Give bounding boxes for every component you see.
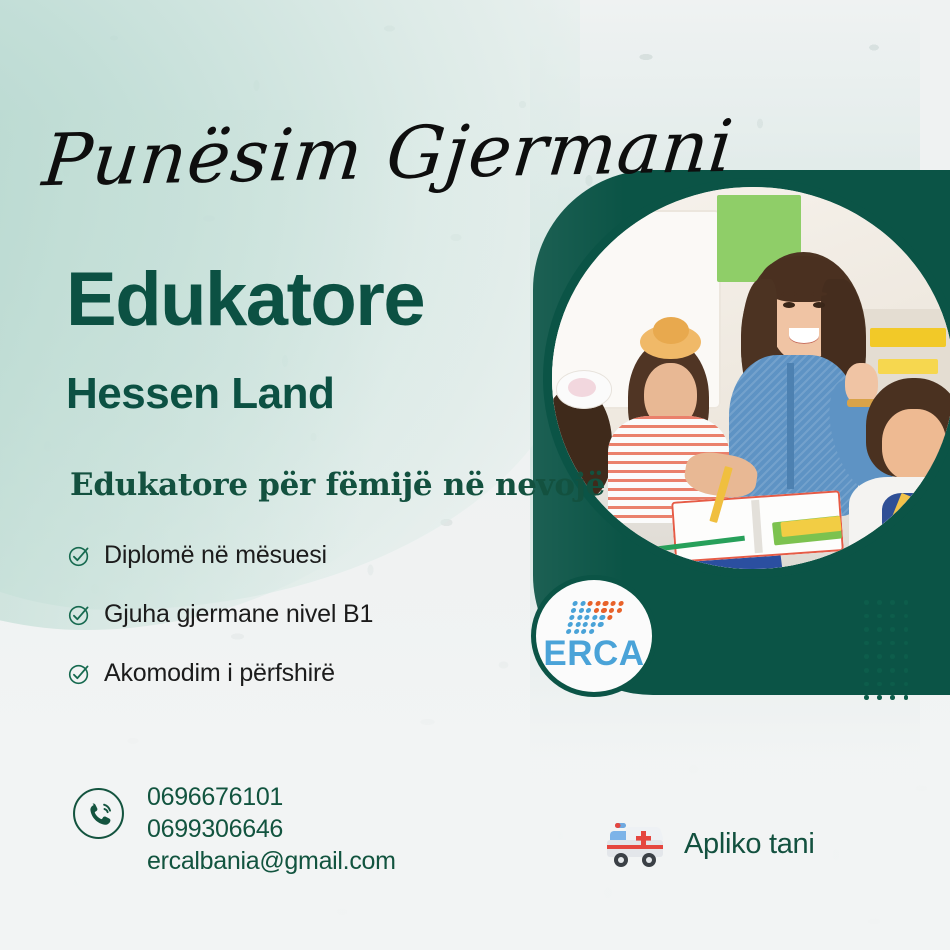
dot xyxy=(877,614,882,619)
dot xyxy=(890,600,895,605)
dot xyxy=(864,614,869,619)
list-item: Diplomë në mësuesi xyxy=(68,532,538,578)
list-item-label: Gjuha gjermane nivel B1 xyxy=(104,600,373,629)
dot xyxy=(599,615,605,620)
dot xyxy=(601,608,607,613)
page-title: Edukatore xyxy=(66,262,424,338)
check-circle-icon xyxy=(68,603,91,626)
dot xyxy=(590,622,596,627)
contact-block: 0696676101 0699306646 ercalbania@gmail.c… xyxy=(72,781,396,877)
dot xyxy=(573,629,579,634)
dot xyxy=(593,608,599,613)
dot xyxy=(610,601,616,606)
dot xyxy=(586,608,592,613)
dot xyxy=(580,601,586,606)
dot xyxy=(567,622,573,627)
dot xyxy=(877,695,882,700)
check-circle-icon xyxy=(68,544,91,567)
dot xyxy=(904,695,909,700)
dot xyxy=(890,627,895,632)
dot xyxy=(565,629,571,634)
dot xyxy=(877,641,882,646)
dot xyxy=(592,615,598,620)
dot xyxy=(877,600,882,605)
dot-grid-decoration xyxy=(864,600,912,708)
dot xyxy=(581,629,587,634)
dot xyxy=(877,654,882,659)
phone-number-secondary: 0699306646 xyxy=(147,813,396,845)
apply-now-label: Apliko tani xyxy=(684,828,815,861)
dot xyxy=(618,601,624,606)
check-circle-icon xyxy=(68,662,91,685)
list-item: Akomodim i përfshirë xyxy=(68,650,538,696)
poster-canvas: ERCA Punësim Gjermani Edukatore Hessen L… xyxy=(0,0,950,950)
dot xyxy=(904,682,909,687)
dot xyxy=(570,608,576,613)
dot xyxy=(890,668,895,673)
phone-icon xyxy=(72,787,125,840)
dot xyxy=(602,601,608,606)
dot xyxy=(890,682,895,687)
erca-logo: ERCA xyxy=(531,575,657,697)
phone-number-primary: 0696676101 xyxy=(147,781,396,813)
dot xyxy=(877,682,882,687)
contact-lines: 0696676101 0699306646 ercalbania@gmail.c… xyxy=(147,781,396,877)
dot xyxy=(904,627,909,632)
dot xyxy=(608,608,614,613)
dot xyxy=(904,668,909,673)
dot xyxy=(904,641,909,646)
dot xyxy=(607,615,613,620)
erca-wordmark: ERCA xyxy=(543,638,644,670)
dot xyxy=(864,668,869,673)
dot xyxy=(877,627,882,632)
dot xyxy=(877,668,882,673)
dot xyxy=(575,622,581,627)
dot xyxy=(864,682,869,687)
photo-ring xyxy=(543,178,950,578)
dot xyxy=(890,614,895,619)
dot xyxy=(904,600,909,605)
list-item: Gjuha gjermane nivel B1 xyxy=(68,591,538,637)
dot xyxy=(864,695,869,700)
dot xyxy=(864,654,869,659)
dot xyxy=(582,622,588,627)
dot xyxy=(576,615,582,620)
dot xyxy=(569,615,575,620)
dot xyxy=(587,601,593,606)
dot xyxy=(588,629,594,634)
dot xyxy=(890,654,895,659)
list-item-label: Akomodim i përfshirë xyxy=(104,659,335,688)
dot xyxy=(595,601,601,606)
teacher-with-children-photo xyxy=(552,187,950,569)
apply-now-cta[interactable]: Apliko tani xyxy=(604,818,815,870)
dot xyxy=(890,641,895,646)
role-line: Edukatore për fëmijë në nevojë xyxy=(70,470,605,501)
page-subtitle: Hessen Land xyxy=(66,372,334,416)
list-item-label: Diplomë në mësuesi xyxy=(104,541,327,570)
dot xyxy=(864,641,869,646)
dot xyxy=(864,627,869,632)
script-title: Punësim Gjermani xyxy=(40,112,649,197)
erca-dot-grid-icon xyxy=(565,601,629,637)
dot xyxy=(572,601,578,606)
dot xyxy=(904,614,909,619)
dot xyxy=(890,695,895,700)
ambulance-icon xyxy=(604,818,670,870)
dot xyxy=(598,622,604,627)
dot xyxy=(616,608,622,613)
dot xyxy=(904,654,909,659)
email-address: ercalbania@gmail.com xyxy=(147,845,396,877)
dot xyxy=(864,600,869,605)
dot xyxy=(584,615,590,620)
requirements-list: Diplomë në mësuesi Gjuha gjermane nivel … xyxy=(68,532,538,709)
dot xyxy=(578,608,584,613)
